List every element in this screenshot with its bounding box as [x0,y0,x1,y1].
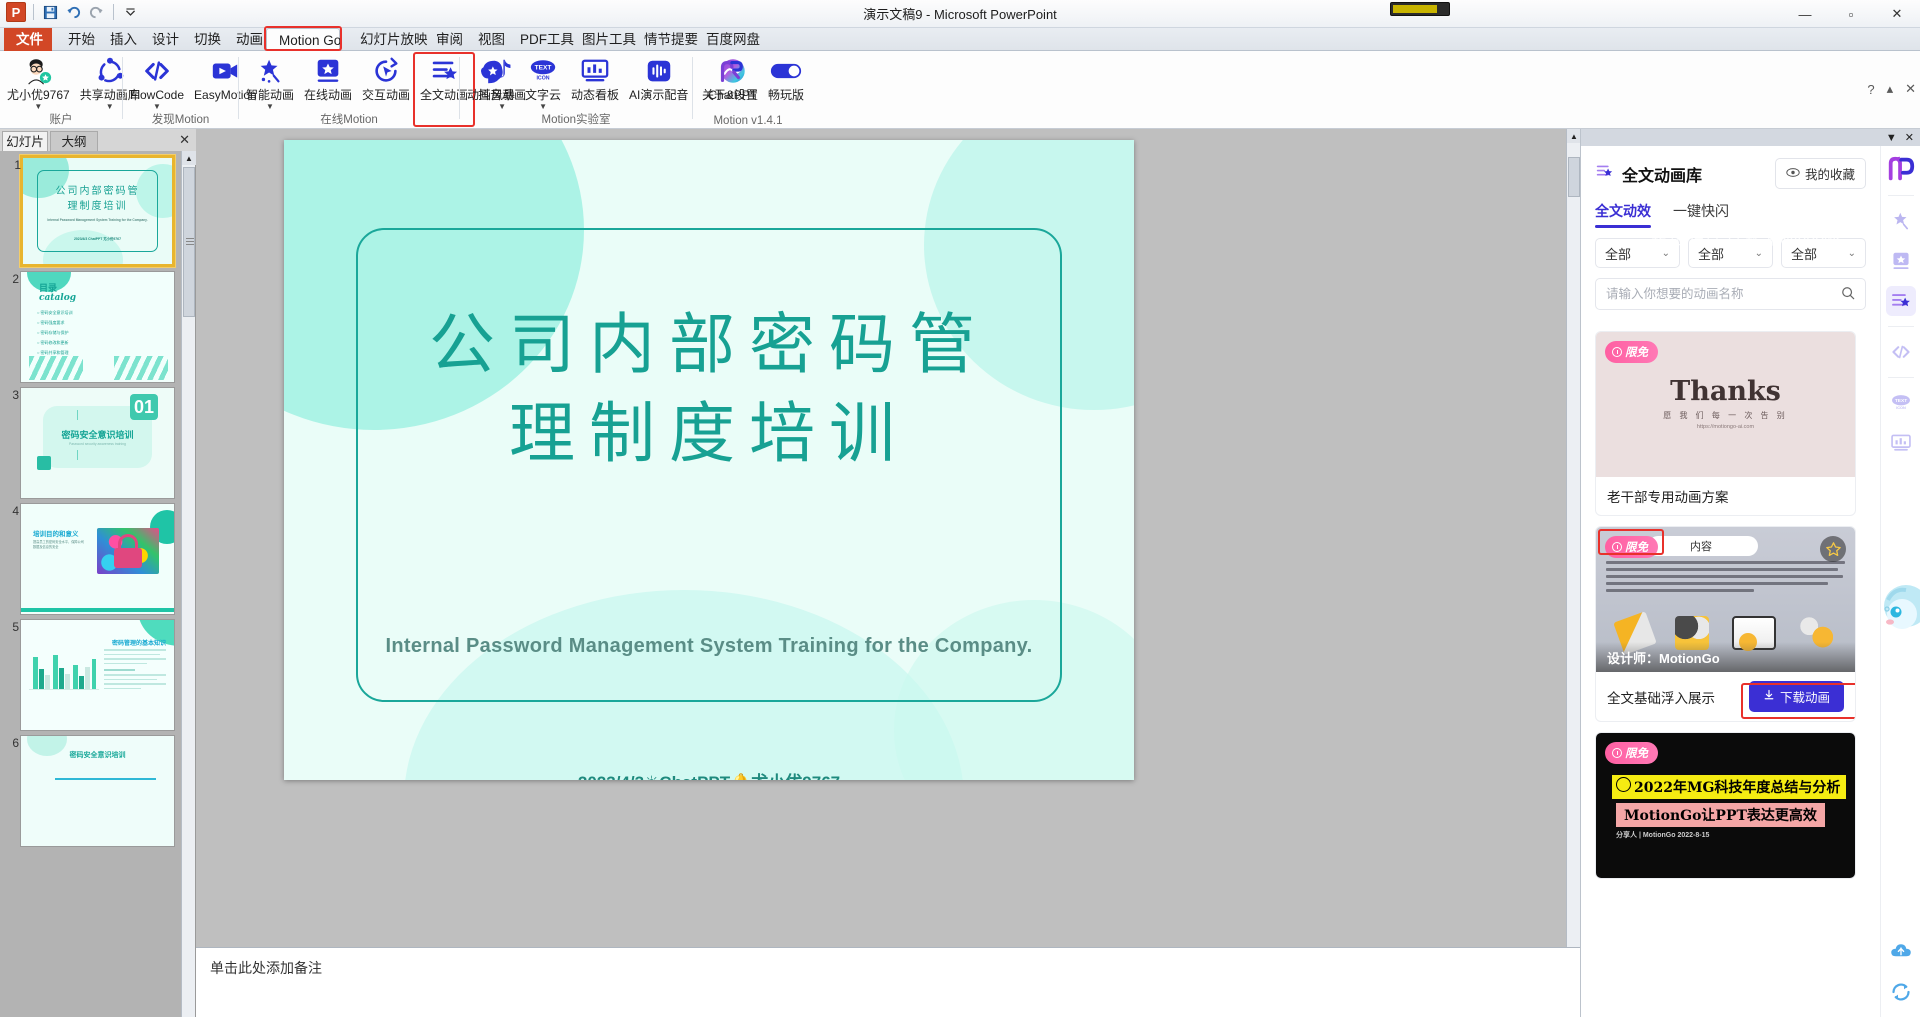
battery-indicator [1390,2,1450,16]
download-animation-button[interactable]: 下载动画 [1749,681,1844,712]
panel-tabs[interactable]: 全文动效 一键快闪 [1581,195,1880,228]
task-panel-header[interactable]: ▼ ✕ [1581,129,1920,146]
clock-icon [1612,542,1622,552]
preview-headline: 2022年MG科技年度总结与分析 [1612,775,1846,799]
slide-title[interactable]: 公司内部密码管 理制度培训 [284,300,1134,478]
clock-icon [1612,347,1622,357]
eye-icon [1786,167,1800,181]
slide-title-line-1: 公司内部密码管 [284,300,1134,389]
toggle-switch-icon[interactable] [770,55,802,87]
ribbon-button-label: 动画风暴 [467,89,515,102]
card-designer: 设计师：MotionGo [1596,642,1855,672]
badge-label: 限免 [1625,344,1648,360]
divider [1888,377,1914,378]
motiongo-logo-icon[interactable] [1886,154,1916,184]
slide-preview: 培训目的和意义 提高员工的密码安全水平，保障公司数据及信息的安全 [21,504,174,614]
status-badge: 限免 [1605,341,1658,363]
panel-icon-rail[interactable]: TEXT ICON [1880,146,1920,1017]
tab-outline[interactable]: 大纲 [50,131,98,151]
magic-star-icon[interactable] [1886,206,1916,236]
search-box[interactable] [1595,278,1866,310]
ribbon-group-label: 发现Motion [123,111,238,127]
preview-window-bar: 内容 [1648,536,1758,556]
ribbon-group-motion-version: 关于&设置 畅玩版 Motion v1.4.1 [693,51,803,129]
filter-category-value: 全部 [1605,244,1631,263]
download-icon [1763,689,1775,704]
card-mg-2022[interactable]: 限免 2022年MG科技年度总结与分析 MotionGo让PPT表达更高效 分享… [1595,732,1856,879]
ribbon-button-label: 文字云 [525,89,561,102]
ribbon-button-label: 动态看板 [571,89,619,102]
ribbon-button-label: 智能动画 [246,89,294,102]
tab-baidu-netdisk[interactable]: 百度网盘 [694,28,772,51]
ribbon-button-animation-storm[interactable]: 动画风暴 [462,55,520,113]
slide-number: 2 [3,272,19,286]
chevron-down-icon[interactable]: ▼ [266,103,274,111]
ribbon-button-label: 尤小优9767 [7,89,70,102]
card-laoganbu[interactable]: 限免 Thanks 愿 我 们 每 一 次 告 别 https://motion… [1595,331,1856,516]
close-button[interactable]: ✕ [1874,0,1920,28]
ribbon-group-label: 在线Motion [239,111,459,127]
notes-pane[interactable]: 单击此处添加备注 [196,947,1580,1017]
dashboard-chart-icon[interactable] [1886,428,1916,458]
windows-activation-watermark: 转到"设置"以激活 Windows。 [1651,225,1860,249]
chevron-down-icon: ⌄ [1848,248,1856,259]
divider [1888,326,1914,327]
thumbnail-slide-2[interactable]: 2 目录 catalog ○ 密码安全意识培训 ○ 密码强度要求 ○ 密码存储与… [20,271,175,383]
sync-icon[interactable] [1886,977,1916,1007]
slide-editing-stage[interactable]: 公司内部密码管 理制度培训 Internal Password Manageme… [196,129,1580,1017]
ribbon-button-label: 交互动画 [362,89,410,102]
minimize-button[interactable]: — [1782,0,1828,28]
panel-title-row: 全文动画库 我的收藏 [1581,146,1880,195]
clock-icon [1612,748,1622,758]
ribbon-button-word-cloud[interactable]: TEXT ICON 文字云 ▼ [520,55,566,113]
tab-slides[interactable]: 幻灯片 [2,131,48,151]
user-avatar-icon [23,55,53,87]
slide-subtitle[interactable]: Internal Password Management System Trai… [284,635,1134,658]
motion-go-task-panel: ▼ ✕ 全文动画库 我的收藏 [1580,129,1920,1017]
ribbon-group-label: Motion v1.4.1 [693,115,803,127]
ribbon-group-account: 尤小优9767 ▼ 共享动画库 ▼ 账户 [0,51,122,129]
ribbon-tab-strip[interactable]: 文件 开始 插入 设计 切换 动画 Motion Go 幻灯片放映 审阅 视图 … [0,28,1920,51]
ribbon-button-online-animation[interactable]: 在线动画 [299,55,357,113]
audio-waveform-icon [644,55,674,87]
ribbon-button-label: 畅玩版 [768,89,804,102]
tab-file[interactable]: 文件 [4,28,52,51]
star-box-icon[interactable] [1886,246,1916,276]
chevron-down-icon[interactable]: ▼ [153,103,161,111]
mascot-avatar [1880,576,1920,666]
dashboard-chart-icon [580,55,610,87]
notes-placeholder[interactable]: 单击此处添加备注 [210,958,322,978]
card-caption: 老干部专用动画方案 [1596,477,1855,515]
svg-text:TEXT: TEXT [535,65,552,72]
fulltext-animation-icon [1595,162,1614,186]
search-input[interactable] [1606,287,1825,301]
card-title: 全文基础浮入展示 [1607,687,1715,707]
ribbon-button-label: 关于&设置 [702,89,758,102]
star-box-icon [313,55,343,87]
maximize-button[interactable]: ▫ [1828,0,1874,28]
fulltext-animation-icon [429,55,459,87]
scroll-up-icon[interactable]: ▲ [1567,129,1581,143]
thumbnail-slide-4[interactable]: 4 培训目的和意义 提高员工的密码安全水平，保障公司数据及信息的安全 [20,503,175,615]
panel-title-text: 全文动画库 [1622,162,1702,186]
stage-scrollbar[interactable]: ▲ ▼ ▴ ▾ [1566,129,1580,1017]
card-caption: 全文基础浮入展示 下载动画 [1596,672,1855,721]
chevron-down-icon: ⌄ [1755,248,1763,259]
thumbnail-slide-6[interactable]: 6 密码安全意识培训 [20,735,175,847]
tab-motion-go[interactable]: Motion Go [266,28,340,51]
ribbon-button-play-edition[interactable]: 畅玩版 [763,55,809,113]
slide-title-line-2: 理制度培训 [284,389,1134,478]
brain-star-icon [476,55,506,87]
preview-subheadline: MotionGo让PPT表达更高效 [1616,803,1825,827]
card-title: 老干部专用动画方案 [1607,486,1729,506]
ribbon: ? ▴ ✕ 尤小优9767 ▼ [0,51,1920,129]
code-icon [142,55,172,87]
chevron-down-icon: ⌄ [1662,248,1670,259]
share-library-icon [95,55,125,87]
current-slide[interactable]: 公司内部密码管 理制度培训 Internal Password Manageme… [284,140,1134,780]
ribbon-group-online-motion: 智能动画 ▼ 在线动画 [239,51,459,129]
chevron-down-icon[interactable]: ▼ [34,103,42,111]
card-fulltext-basic-float[interactable]: 内容 限免 [1595,526,1856,722]
cloud-upload-icon[interactable] [1886,936,1916,966]
video-play-icon [210,55,240,87]
ribbon-button-ai-voiceover[interactable]: AI演示配音 [624,55,693,113]
chevron-down-icon[interactable]: ▼ [106,103,114,111]
fulltext-animation-icon[interactable] [1886,286,1916,316]
preview-window-label: 内容 [1690,538,1712,554]
ribbon-group-motion-lab: 动画风暴 TEXT ICON 文字云 ▼ [460,51,692,129]
slide-number: 6 [3,736,19,750]
ribbon-button-about-settings[interactable]: 关于&设置 [697,55,763,113]
status-badge: 限免 [1605,536,1658,558]
task-panel-body: 全文动画库 我的收藏 全文动效 一键快闪 全部 ⌄ 全部 ⌄ 全部 [1581,146,1880,1017]
card-preview[interactable]: 限免 Thanks 愿 我 们 每 一 次 告 别 https://motion… [1596,332,1855,477]
slide-number: 5 [3,620,19,634]
my-favorites-label: 我的收藏 [1805,164,1855,183]
ribbon-button-smart-animation[interactable]: 智能动画 ▼ [241,55,299,113]
divider [1888,195,1914,196]
slide-preview: 密码安全意识培训 [21,736,174,846]
download-label: 下载动画 [1780,687,1830,706]
ribbon-group-label: Motion实验室 [460,111,692,127]
slide-footer-date[interactable]: 2023/4/3☀ChatPPT🔔尤小优9767 [284,768,1134,780]
card-preview[interactable]: 内容 限免 [1596,527,1855,672]
thumbnail-slide-3[interactable]: 3 01 密码安全意识培训 Password security awarenes… [20,387,175,499]
interactive-cursor-icon [371,55,401,87]
slide-preview: 01 密码安全意识培训 Password security awareness … [21,388,174,498]
ribbon-right-controls[interactable]: ? ▴ ✕ [1867,81,1916,97]
preview-headline-text: 2022年MG科技年度总结与分析 [1634,780,1840,796]
ribbon-button-interactive-animation[interactable]: 交互动画 [357,55,415,113]
slide-number: 3 [3,388,19,402]
thumbnail-list[interactable]: 1 公司内部密码管理制度培训 Internal Password Managem… [0,151,181,1017]
ribbon-button-label: AI演示配音 [629,89,688,102]
card-preview[interactable]: 限免 2022年MG科技年度总结与分析 MotionGo让PPT表达更高效 分享… [1596,733,1855,878]
animation-card-list[interactable]: 限免 Thanks 愿 我 们 每 一 次 告 别 https://motion… [1581,331,1870,1017]
ribbon-button-label: 在线动画 [304,89,352,102]
magic-star-icon [255,55,285,87]
favorite-button[interactable] [1820,536,1846,562]
preview-subline: 愿 我 们 每 一 次 告 别 [1596,410,1855,421]
help-icon[interactable]: ? [1867,82,1874,97]
svg-text:TEXT: TEXT [1894,398,1906,404]
slide-preview: 密码管理的基本知识 [21,620,174,730]
panel-dropdown-icon[interactable]: ▼ [1886,132,1897,144]
search-icon[interactable] [1841,286,1855,303]
preview-text-lines [1606,561,1845,603]
badge-label: 限免 [1625,539,1648,555]
text-cloud-icon[interactable]: TEXT ICON [1886,388,1916,418]
text-cloud-icon: TEXT ICON [528,55,558,87]
scrollbar-thumb[interactable] [1568,157,1580,197]
window-controls[interactable]: — ▫ ✕ [1782,0,1920,28]
ribbon-button-user-account[interactable]: 尤小优9767 ▼ [2,55,75,113]
ribbon-button-flowcode[interactable]: FlowCode ▼ [125,55,189,113]
thumbnail-slide-5[interactable]: 5 密码管理的基本知识 [20,619,175,731]
panel-close-icon[interactable]: ✕ [1905,131,1914,144]
my-favorites-button[interactable]: 我的收藏 [1775,158,1866,189]
svg-text:ICON: ICON [536,75,549,81]
tab-fulltext-effects[interactable]: 全文动效 [1595,201,1651,228]
code-icon[interactable] [1886,337,1916,367]
about-settings-icon [715,55,745,87]
slide-preview: 公司内部密码管理制度培训 Internal Password Managemen… [23,158,172,264]
scroll-up-icon[interactable]: ▲ [182,151,196,165]
preview-meta: 分享人 | MotionGo 2022-8-15 [1616,830,1709,840]
close-thumbnail-pane-icon[interactable]: ✕ [179,132,190,148]
slide-preview: 目录 catalog ○ 密码安全意识培训 ○ 密码强度要求 ○ 密码存储与保护… [21,272,174,382]
title-bar: P 演示文稿9 - Microsoft PowerPoint — ▫ ✕ [0,0,1920,28]
ribbon-close-icon[interactable]: ✕ [1905,81,1916,97]
status-badge: 限免 [1605,742,1658,764]
slide-number: 4 [3,504,19,518]
preview-headline: Thanks [1596,376,1855,407]
ribbon-group-discover-motion: FlowCode ▼ EasyMotion 发现Motion [123,51,238,129]
minimize-ribbon-icon[interactable]: ▴ [1887,81,1894,97]
thumbnail-slide-1[interactable]: 1 公司内部密码管理制度培训 Internal Password Managem… [20,155,175,267]
preview-url: https://motiongo-ai.com [1596,424,1855,430]
badge-label: 限免 [1625,745,1648,761]
ribbon-button-label: FlowCode [130,89,184,102]
tab-one-click-flash[interactable]: 一键快闪 [1673,201,1729,228]
ribbon-button-dynamic-dashboard[interactable]: 动态看板 [566,55,624,113]
slide-thumbnail-pane: 幻灯片 大纲 ✕ 1 公司内部密码管理制度培训 Internal Passwor… [0,129,196,1017]
scrollbar-thumb[interactable] [183,167,195,317]
thumbnail-pane-tabs[interactable]: 幻灯片 大纲 ✕ [0,129,196,151]
ribbon-group-label: 账户 [0,111,122,127]
document-title: 演示文稿9 - Microsoft PowerPoint [0,4,1920,23]
panel-title: 全文动画库 [1595,162,1702,186]
chevron-down-icon[interactable]: ▼ [539,103,547,111]
slide-number: 1 [5,158,21,172]
svg-text:ICON: ICON [1896,406,1906,410]
thumbnail-scrollbar[interactable]: ▲ [181,151,195,1017]
